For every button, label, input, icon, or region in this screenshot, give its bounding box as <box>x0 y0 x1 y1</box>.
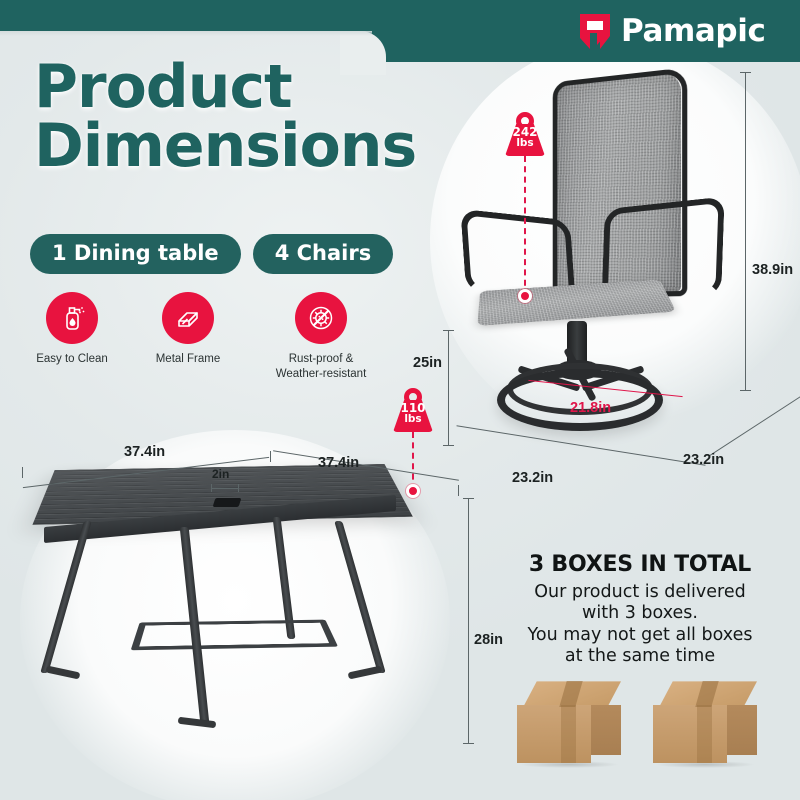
table-leg-back-right <box>334 521 386 673</box>
shipping-box-images <box>492 681 788 767</box>
table-width-label: 37.4in <box>124 444 165 460</box>
chair-weight-point <box>518 289 532 303</box>
cardboard-box-icon <box>517 681 627 767</box>
table-weight-badge: 110 lbs <box>393 388 433 432</box>
feature-metal-frame: Metal Frame <box>130 292 246 381</box>
table-leg-back-left <box>40 521 92 673</box>
weight-value: 110 lbs <box>393 402 433 425</box>
shipping-heading: 3 BOXES IN TOTAL <box>492 552 788 577</box>
feature-rust-proof: Rust-proof &Weather-resistant <box>246 292 396 381</box>
shipping-line-4: at the same time <box>492 646 788 667</box>
chair-seat-tick-bottom <box>443 445 454 446</box>
weight-icon: 242 lbs <box>505 112 545 156</box>
chair-seat-tick-top <box>443 330 454 331</box>
feature-easy-to-clean: Easy to Clean <box>14 292 130 381</box>
pamapic-logo-mark-icon <box>578 12 612 50</box>
page-title-line2: Dimensions <box>34 117 454 176</box>
chair-weight-leader-line <box>524 156 526 296</box>
table-umbrella-hole-label: 2in <box>212 467 229 481</box>
table-umbrella-hole <box>213 498 242 507</box>
no-rust-icon <box>295 292 347 344</box>
feature-list: Easy to Clean Metal Frame <box>14 292 414 381</box>
table-foot <box>178 717 217 729</box>
header-bar-shadow <box>0 31 372 36</box>
chair-base-diameter-label: 21.8in <box>570 400 611 416</box>
product-dimensions-infographic: Pamapic Product Dimensions 1 Dining tabl… <box>0 0 800 800</box>
table-height-tick-top <box>463 498 474 499</box>
table-hole-tick-left <box>211 484 212 492</box>
cardboard-box-icon <box>653 681 763 767</box>
table-height-tick-bottom <box>463 743 474 744</box>
table-depth-label: 37.4in <box>318 455 359 471</box>
table-support-frame <box>131 620 338 651</box>
page-title: Product Dimensions <box>34 58 454 176</box>
shipping-line-1: Our product is delivered <box>492 582 788 603</box>
weight-value: 242 lbs <box>505 126 545 149</box>
shipping-info: 3 BOXES IN TOTAL Our product is delivere… <box>492 552 788 767</box>
brand-logo: Pamapic <box>578 9 765 53</box>
chair-height-tick-top <box>740 72 751 73</box>
table-width-tick-right <box>270 451 271 462</box>
table-hole-line <box>211 488 239 489</box>
chair-seat-height-label: 25in <box>413 355 442 371</box>
brand-name: Pamapic <box>621 16 765 47</box>
chair-height-label: 38.9in <box>752 262 793 278</box>
feature-label: Metal Frame <box>156 352 221 367</box>
shipping-description: Our product is delivered with 3 boxes. Y… <box>492 582 788 667</box>
pill-chairs: 4 Chairs <box>253 234 394 274</box>
metal-sheet-icon <box>162 292 214 344</box>
chair-depth-label: 23.2in <box>683 452 724 468</box>
chair-height-tick-bottom <box>740 390 751 391</box>
table-weight-leader-line <box>412 432 414 490</box>
table-hole-tick-right <box>238 484 239 492</box>
table-weight-point <box>406 484 420 498</box>
contents-pills: 1 Dining table 4 Chairs <box>30 234 393 274</box>
spray-bottle-icon <box>46 292 98 344</box>
table-foot <box>46 666 81 680</box>
header-bar-left <box>0 0 372 31</box>
chair-height-line <box>745 72 746 390</box>
pill-dining-table: 1 Dining table <box>30 234 241 274</box>
table-illustration <box>18 455 418 785</box>
chair-seat-height-line <box>448 330 449 445</box>
table-foot <box>348 666 383 680</box>
chair-weight-badge: 242 lbs <box>505 112 545 156</box>
feature-label: Easy to Clean <box>36 352 108 367</box>
table-depth-tick <box>458 485 459 496</box>
weight-icon: 110 lbs <box>393 388 433 432</box>
table-width-tick-left <box>22 467 23 478</box>
table-height-line <box>468 498 469 743</box>
feature-label: Rust-proof &Weather-resistant <box>276 352 367 381</box>
chair-width-label: 23.2in <box>512 470 553 486</box>
shipping-line-3: You may not get all boxes <box>492 625 788 646</box>
shipping-line-2: with 3 boxes. <box>492 603 788 624</box>
